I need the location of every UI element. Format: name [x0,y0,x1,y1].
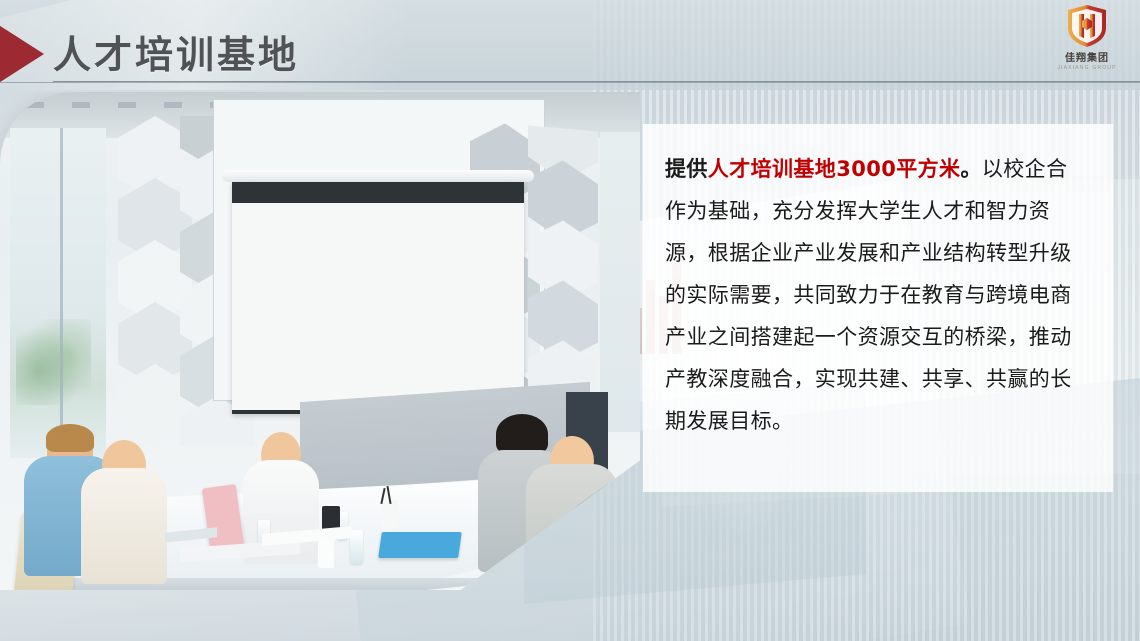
slide: 人才培训基地 佳翔集团 JIAXIANG GROUP [0,0,1140,641]
description-paragraph: 以校企合作为基础，充分发挥大学生人才和智力资源，根据企业产业发展和产业结构转型升… [665,157,1072,433]
lead-prefix: 提供 [665,157,708,181]
red-arrow-icon [0,22,44,86]
shield-icon [1066,4,1108,48]
company-logo: 佳翔集团 JIAXIANG GROUP [1050,4,1124,78]
photo-window [10,128,106,458]
description-panel: 提供人才培训基地3000平方米。以校企合作为基础，充分发挥大学生人才和智力资源，… [643,124,1113,492]
lead-highlight: 人才培训基地3000平方米 [708,157,961,181]
photo-projection-screen [232,182,524,414]
page-title: 人才培训基地 [53,24,299,79]
description-text: 提供人才培训基地3000平方米。以校企合作为基础，充分发挥大学生人才和智力资源，… [665,148,1087,442]
title-underline [53,81,1140,82]
photo-right-glass [600,132,640,432]
lead-suffix: 。 [960,157,981,181]
photo-person [78,440,170,580]
logo-name-en: JIAXIANG GROUP [1057,65,1116,71]
meeting-room-photo [0,92,640,590]
logo-name-cn: 佳翔集团 [1065,49,1109,64]
photo-projector-roller [222,170,534,182]
photo-inner [0,92,640,590]
photo-folder [378,532,462,558]
header-divider [0,82,1140,83]
